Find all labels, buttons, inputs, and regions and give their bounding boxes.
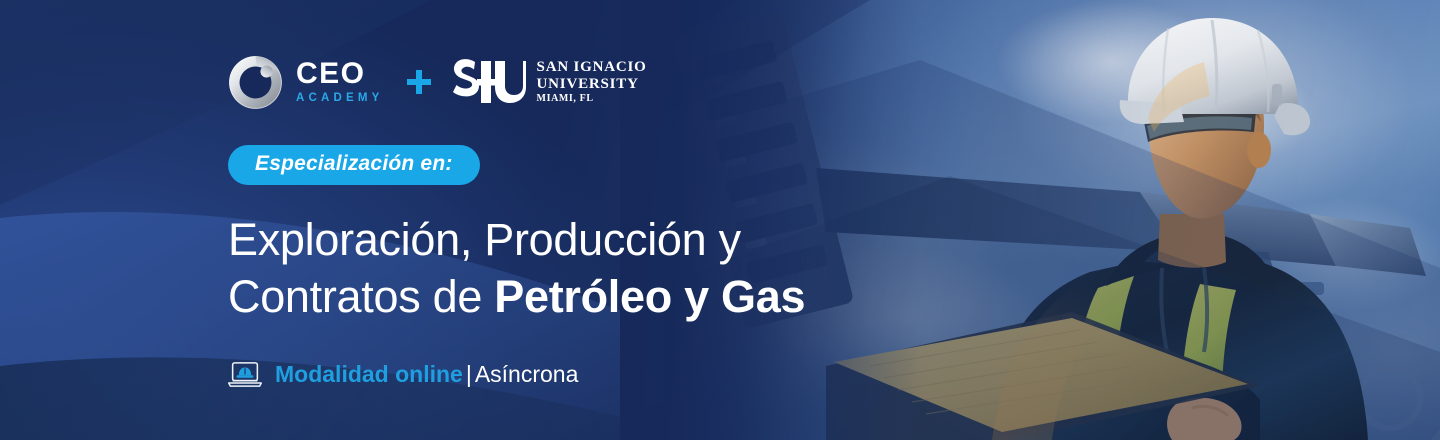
headline-line-2-bold: Petróleo y Gas (494, 271, 805, 322)
headline-line-1: Exploración, Producción y (228, 211, 880, 268)
modality-rest: Asíncrona (475, 361, 579, 387)
status-badge: Especialización en: (228, 145, 480, 185)
ceo-title: CEO (296, 59, 366, 89)
ceo-academy-logo: CEO ACADEMY (228, 55, 384, 110)
siu-line1: SAN IGNACIO (537, 59, 647, 75)
ceo-academy-circular-mark (228, 55, 283, 110)
page-title: Exploración, Producción y Contratos de P… (228, 211, 880, 325)
banner-content: CEO ACADEMY (0, 0, 880, 440)
promo-banner: CEO ACADEMY (0, 0, 1440, 440)
headline-line-2: Contratos de Petróleo y Gas (228, 268, 880, 325)
siu-monogram (452, 56, 526, 108)
siu-line3: MIAMI, FL (537, 94, 647, 105)
ceo-subtitle: ACADEMY (296, 93, 384, 105)
modality-separator: | (463, 361, 475, 387)
siu-line2: UNIVERSITY (537, 76, 647, 92)
ceo-academy-wordmark: CEO ACADEMY (296, 59, 384, 105)
headline-line-2-regular: Contratos de (228, 271, 494, 322)
logo-row: CEO ACADEMY (228, 52, 880, 112)
siu-wordmark: SAN IGNACIO UNIVERSITY MIAMI, FL (537, 59, 647, 104)
plus-icon (406, 69, 432, 95)
modality-strong: Modalidad online (275, 361, 463, 387)
badge-wrapper: Especialización en: (228, 145, 880, 185)
modality-text: Modalidad online|Asíncrona (275, 361, 578, 388)
modality-row: Modalidad online|Asíncrona (228, 361, 880, 388)
san-ignacio-university-logo: SAN IGNACIO UNIVERSITY MIAMI, FL (452, 56, 647, 108)
laptop-hardhat-icon (228, 361, 262, 388)
